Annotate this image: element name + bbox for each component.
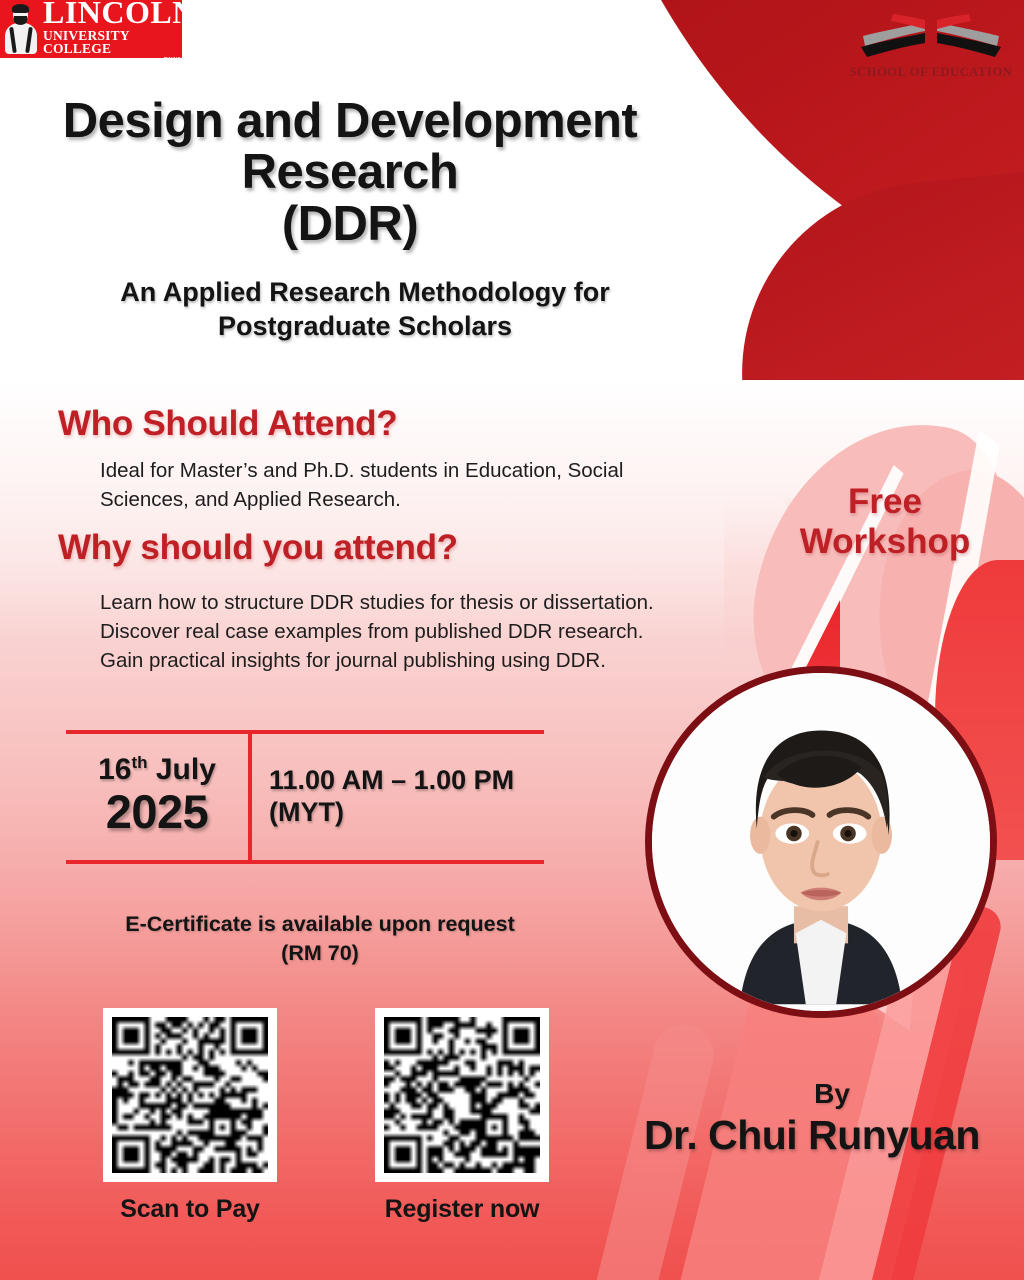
qr-code-register[interactable] (375, 1008, 549, 1182)
school-of-education-caption: SCHOOL OF EDUCATION (848, 65, 1014, 80)
certificate-note: E-Certificate is available upon request … (60, 910, 580, 968)
free-workshop-line-1: Free (780, 482, 990, 522)
qr-code-pay[interactable] (103, 1008, 277, 1182)
scan-to-pay-block[interactable]: Scan to Pay (103, 1008, 277, 1224)
who-body-line-2: Sciences, and Applied Research. (100, 485, 700, 514)
open-book-icon (851, 6, 1011, 64)
event-month: July (156, 753, 216, 786)
free-workshop-line-2: Workshop (780, 522, 990, 562)
speaker-prefix: By (640, 1078, 1024, 1110)
register-now-block[interactable]: Register now (375, 1008, 549, 1224)
page-title-line-2: Research (30, 147, 670, 198)
certificate-note-line-2: (RM 70) (60, 939, 580, 968)
event-day-number: 16 (98, 753, 131, 786)
speaker-name: Dr. Chui Runyuan (600, 1112, 1024, 1159)
event-date: 16th July 2025 (66, 734, 252, 860)
register-now-label: Register now (375, 1195, 549, 1224)
why-body-line-2: Discover real case examples from publish… (100, 617, 750, 646)
event-day-ordinal: th (131, 753, 147, 772)
certificate-note-line-1: E-Certificate is available upon request (60, 910, 580, 939)
page-title-line-1: Design and Development (30, 96, 670, 147)
why-body-line-1: Learn how to structure DDR studies for t… (100, 588, 750, 617)
free-workshop-badge: Free Workshop (780, 482, 990, 563)
scan-to-pay-label: Scan to Pay (103, 1195, 277, 1224)
lincoln-logo-name: LINCOLN (43, 0, 196, 28)
page-subtitle-line-2: Postgraduate Scholars (40, 310, 690, 344)
why-attend-heading: Why should you attend? (58, 528, 458, 568)
page-title-line-3: (DDR) (30, 199, 670, 250)
speaker-portrait (645, 666, 997, 1018)
event-time-range: 11.00 AM – 1.00 PM (269, 765, 544, 797)
lincoln-logo-regno: DKU016(B) (43, 57, 196, 63)
speaker-photo-illustration (652, 673, 990, 1011)
event-year: 2025 (106, 788, 209, 836)
page-title: Design and Development Research (DDR) (30, 96, 670, 250)
page-subtitle: An Applied Research Methodology for Post… (40, 276, 690, 344)
who-body-line-1: Ideal for Master’s and Ph.D. students in… (100, 456, 700, 485)
lincoln-university-logo: LINCOLN UNIVERSITY COLLEGE DKU016(B) (0, 0, 182, 58)
school-of-education-logo: SCHOOL OF EDUCATION (848, 6, 1014, 82)
who-should-attend-body: Ideal for Master’s and Ph.D. students in… (100, 456, 700, 514)
qr-code-icon (384, 1017, 540, 1173)
lincoln-logo-subname: UNIVERSITY COLLEGE (43, 29, 196, 56)
why-attend-body: Learn how to structure DDR studies for t… (100, 588, 750, 675)
event-time: 11.00 AM – 1.00 PM (MYT) (252, 734, 544, 860)
event-timezone: (MYT) (269, 797, 544, 829)
event-day-month: 16th July (98, 754, 216, 786)
qr-code-icon (112, 1017, 268, 1173)
event-datetime-block: 16th July 2025 11.00 AM – 1.00 PM (MYT) (66, 730, 544, 864)
page-subtitle-line-1: An Applied Research Methodology for (40, 276, 690, 310)
lincoln-bust-icon (4, 3, 38, 55)
who-should-attend-heading: Who Should Attend? (58, 404, 397, 444)
why-body-line-3: Gain practical insights for journal publ… (100, 646, 750, 675)
